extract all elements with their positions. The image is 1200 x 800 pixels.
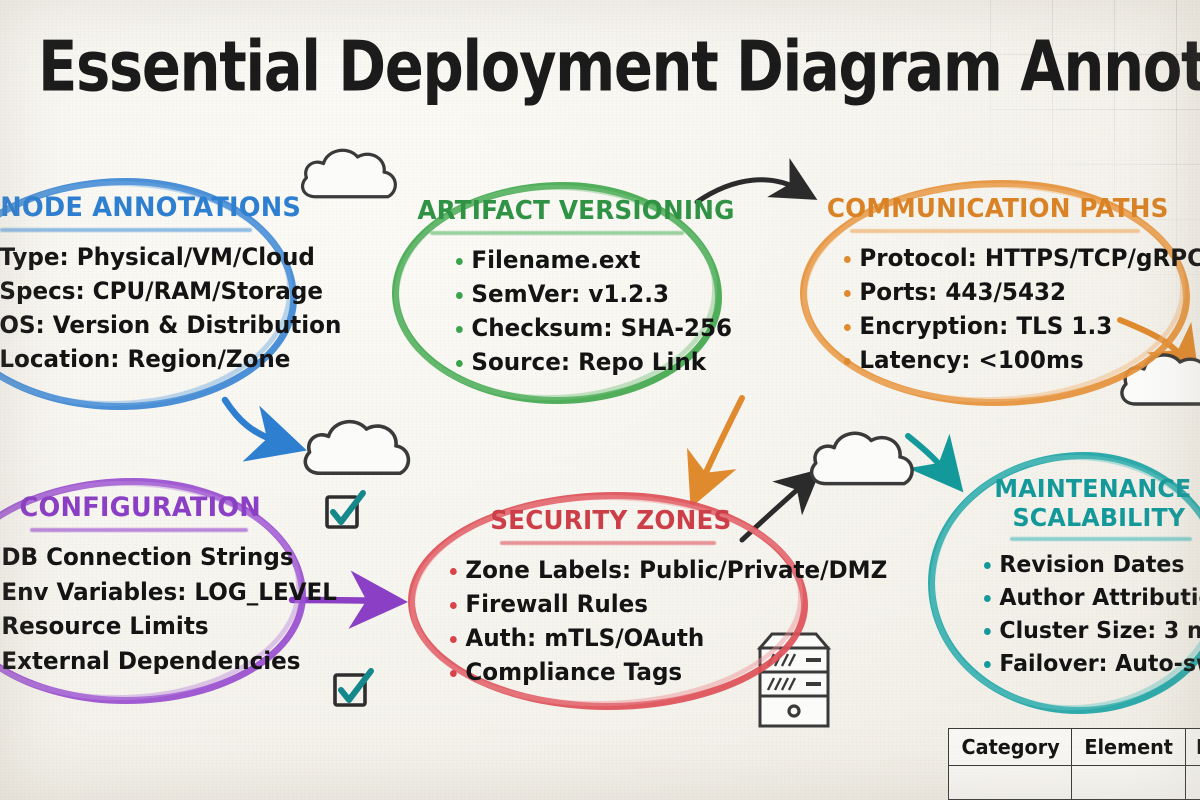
bullet-dot	[844, 324, 851, 331]
list-item: DB Connection Strings	[0, 540, 276, 575]
bubble-title-underline	[430, 231, 684, 235]
table-header-category: Category	[951, 729, 1069, 766]
bubble-title-line-1: MAINTENANCE &	[953, 474, 1200, 503]
bullet-dot	[456, 258, 463, 265]
list-item: Failover: Auto-switchover	[984, 648, 1200, 681]
page-title: Essential Deployment Diagram Annotations	[38, 30, 1098, 103]
list-item: Cluster Size: 3 nodes	[984, 615, 1200, 648]
checkbox-checked-icon[interactable]	[322, 490, 366, 534]
bullet-dot	[450, 602, 457, 609]
bubble-title-line-2: SCALABILITY	[953, 503, 1200, 532]
list-item: Ports: 443/5432	[844, 275, 1159, 309]
bubble-title-underline	[1010, 537, 1192, 541]
bubble-node-annotations[interactable]: NODE ANNOTATIONS Type: Physical/VM/Cloud…	[0, 178, 297, 410]
list-item: Location: Region/Zone	[0, 342, 267, 376]
bullet-dot	[844, 358, 851, 365]
list-item: Protocol: HTTPS/TCP/gRPC	[844, 241, 1159, 275]
list-item: Resource Limits	[0, 609, 276, 644]
table-cell-category[interactable]	[951, 766, 1069, 800]
bubble-title: SECURITY ZONES	[435, 506, 781, 536]
bullet-dot	[450, 568, 457, 575]
legend-table[interactable]: Category Element Ex	[948, 728, 1200, 800]
bubble-maintenance-scalability[interactable]: MAINTENANCE & SCALABILITY Revision Dates…	[928, 452, 1200, 714]
list-item: Filename.ext	[456, 243, 694, 277]
table-row[interactable]	[949, 766, 1200, 800]
list-item: Latency: <100ms	[844, 343, 1159, 377]
bubble-item-list: Protocol: HTTPS/TCP/gRPC Ports: 443/5432…	[818, 241, 1172, 377]
list-item: Auth: mTLS/OAuth	[450, 621, 776, 655]
table-header-example: Ex	[1186, 729, 1200, 766]
list-item: Author Attribution	[984, 582, 1200, 615]
list-item: Checksum: SHA-256	[456, 311, 694, 345]
bullet-dot	[450, 670, 457, 677]
list-item: Firewall Rules	[450, 587, 776, 621]
cloud-icon	[292, 138, 408, 210]
bubble-item-list: Type: Physical/VM/Cloud Specs: CPU/RAM/S…	[0, 240, 279, 376]
bubble-title-underline	[500, 541, 716, 545]
bubble-item-list: DB Connection Strings Env Variables: LOG…	[0, 540, 288, 678]
cloud-icon	[292, 408, 424, 488]
bullet-dot	[984, 661, 991, 668]
bullet-dot	[450, 636, 457, 643]
list-item: Zone Labels: Public/Private/DMZ	[450, 553, 776, 587]
bullet-dot	[456, 292, 463, 299]
bubble-title: COMMUNICATION PATHS	[827, 194, 1163, 224]
list-item: Type: Physical/VM/Cloud	[0, 240, 267, 274]
bullet-dot	[984, 562, 991, 569]
bubble-title-underline	[850, 229, 1140, 233]
list-item: OS: Version & Distribution	[0, 308, 267, 342]
bubble-security-zones[interactable]: SECURITY ZONES Zone Labels: Public/Priva…	[408, 492, 808, 710]
bubble-title: ARTIFACT VERSIONING	[417, 196, 696, 226]
list-item: Encryption: TLS 1.3	[844, 309, 1159, 343]
bullet-dot	[984, 628, 991, 635]
bullet-dot	[456, 326, 463, 333]
bubble-title-underline	[0, 228, 252, 232]
list-item: Specs: CPU/RAM/Storage	[0, 274, 267, 308]
checkbox-checked-icon[interactable]	[330, 668, 374, 712]
bubble-communication-paths[interactable]: COMMUNICATION PATHS Protocol: HTTPS/TCP/…	[800, 180, 1190, 406]
cloud-icon	[800, 420, 926, 498]
list-item: Compliance Tags	[450, 655, 776, 689]
bubble-configuration[interactable]: CONFIGURATION DB Connection Strings Env …	[0, 478, 306, 704]
table-cell-example[interactable]	[1186, 766, 1200, 800]
table-header-row: Category Element Ex	[949, 729, 1200, 766]
bubble-title: NODE ANNOTATIONS	[0, 192, 271, 223]
bullet-dot	[456, 360, 463, 367]
bubble-item-list: Zone Labels: Public/Private/DMZ Firewall…	[426, 553, 790, 689]
list-item: Source: Repo Link	[456, 345, 694, 379]
list-item: Revision Dates	[984, 549, 1200, 582]
bubble-item-list: Revision Dates Author Attribution Cluste…	[946, 549, 1200, 681]
list-item: SemVer: v1.2.3	[456, 277, 694, 311]
list-item: Env Variables: LOG_LEVEL	[0, 575, 276, 610]
bubble-artifact-versioning[interactable]: ARTIFACT VERSIONING Filename.ext SemVer:…	[392, 182, 722, 404]
table-cell-element[interactable]	[1074, 766, 1183, 800]
bubble-title: CONFIGURATION	[0, 492, 280, 523]
bubble-item-list: Filename.ext SemVer: v1.2.3 Checksum: SH…	[410, 243, 704, 379]
bullet-dot	[984, 595, 991, 602]
bullet-dot	[844, 290, 851, 297]
list-item: External Dependencies	[0, 644, 276, 679]
table-header-element: Element	[1074, 729, 1183, 766]
bullet-dot	[844, 256, 851, 263]
bubble-title-underline	[30, 528, 248, 532]
